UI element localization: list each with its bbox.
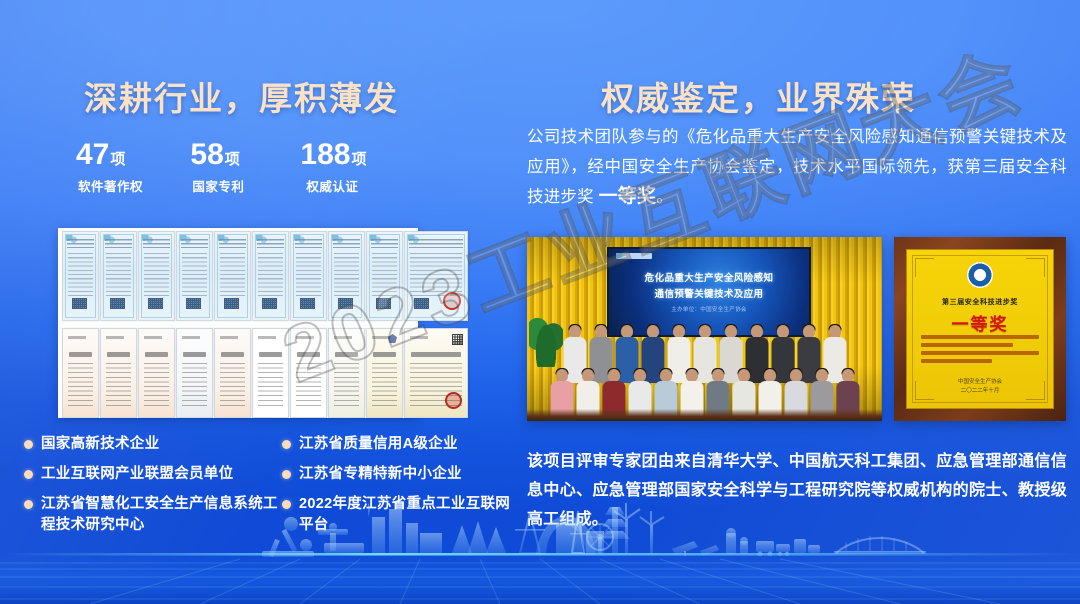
certificate-thumb xyxy=(404,231,468,321)
left-section-heading: 深耕行业，厚积薄发 xyxy=(84,72,399,120)
certificate-thumb xyxy=(290,231,327,321)
stat-number: 47 xyxy=(76,138,109,171)
association-emblem-icon xyxy=(967,262,993,288)
certificate-thumb xyxy=(100,231,137,321)
award-footer: 中国安全生产协会 二〇二二年十月 xyxy=(907,378,1053,396)
certificate-thumb xyxy=(176,328,213,418)
bullet-label: 江苏省专精特新中小企业 xyxy=(299,464,462,485)
stat-number: 188 xyxy=(300,138,350,171)
ornament-icon xyxy=(915,258,934,277)
certificate-thumb xyxy=(176,231,213,321)
slide-canvas: 深耕行业，厚积薄发 47项 软件著作权 58项 国家专利 188项 权威认证 xyxy=(0,0,1080,604)
award-prize-label: 一等奖 xyxy=(907,310,1053,335)
list-item: 工业互联网产业联盟会员单位 xyxy=(24,464,282,485)
stat-number: 58 xyxy=(190,138,223,171)
stat-unit: 项 xyxy=(110,151,125,168)
bullet-label: 江苏省质量信用A级企业 xyxy=(299,434,458,455)
certificate-thumb xyxy=(100,328,137,418)
list-item: 2022年度江苏省重点工业互联网平台 xyxy=(282,494,516,536)
award-date: 二〇二二年十月 xyxy=(907,387,1053,396)
certificate-thumb xyxy=(138,231,175,321)
certificate-thumb xyxy=(252,328,289,418)
group-photo: 危化品重大生产安全风险感知 通信预警关键技术及应用 主办单位：中国安全生产协会 xyxy=(527,237,882,421)
certificate-thumb xyxy=(328,231,365,321)
right-paragraph-top: 公司技术团队参与的《危化品重大生产安全风险感知通信预警关键技术及应用》，经中国安… xyxy=(527,122,1067,212)
bullet-dot-icon xyxy=(24,440,33,449)
certificate-thumb xyxy=(62,231,99,321)
certificate-thumb xyxy=(366,328,403,418)
certificate-thumb xyxy=(62,328,99,418)
list-item: 国家高新技术企业 xyxy=(24,434,282,455)
award-meta xyxy=(921,335,1039,367)
bullet-dot-icon xyxy=(24,470,33,479)
certificates-row-software xyxy=(62,231,469,321)
stat-caption: 软件著作权 xyxy=(78,176,190,195)
stat-caption: 权威认证 xyxy=(306,176,406,195)
paragraph-suffix: 。 xyxy=(656,188,673,206)
certificate-thumb xyxy=(214,231,251,321)
stat-unit: 项 xyxy=(225,151,240,168)
screen-title-line1: 危化品重大生产安全风险感知 xyxy=(609,270,809,284)
award-face: 第三届安全科技进步奖 一等奖 中国安全生产协会 二〇二二年十月 xyxy=(906,249,1054,409)
certificate-thumb xyxy=(138,328,175,418)
stat-item: 188项 权威认证 xyxy=(300,140,406,195)
stats-group: 47项 软件著作权 58项 国家专利 188项 权威认证 xyxy=(76,140,406,195)
photo-floor xyxy=(527,409,882,421)
ornament-icon xyxy=(1026,258,1045,277)
screen-logo-icon xyxy=(616,253,652,259)
certificate-thumb xyxy=(366,231,403,321)
list-item: 江苏省专精特新中小企业 xyxy=(282,464,516,485)
right-section-heading: 权威鉴定，业界殊荣 xyxy=(601,72,916,120)
certificate-thumb xyxy=(252,231,289,321)
certificate-thumb xyxy=(214,328,251,418)
screen-title-line2: 通信预警关键技术及应用 xyxy=(609,286,809,300)
bullet-dot-icon xyxy=(24,500,33,509)
certificates-panel xyxy=(58,228,418,418)
stat-item: 47项 软件著作权 xyxy=(76,140,190,195)
certificate-thumb xyxy=(290,328,327,418)
bullet-label: 工业互联网产业联盟会员单位 xyxy=(41,464,233,485)
stat-item: 58项 国家专利 xyxy=(190,140,300,195)
award-issuer: 中国安全生产协会 xyxy=(907,378,1053,387)
right-paragraph-bottom: 该项目评审专家团由来自清华大学、中国航天科工集团、应急管理部通信信息中心、应急管… xyxy=(527,447,1067,534)
bullet-dot-icon xyxy=(282,500,291,509)
bullet-label: 2022年度江苏省重点工业互联网平台 xyxy=(299,494,516,536)
bullet-label: 国家高新技术企业 xyxy=(41,434,159,455)
award-plaque: 第三届安全科技进步奖 一等奖 中国安全生产协会 二〇二二年十月 xyxy=(894,237,1066,421)
screen-subtitle: 主办单位：中国安全生产协会 xyxy=(609,305,809,313)
bullet-column-left: 国家高新技术企业 工业互联网产业联盟会员单位 江苏省智慧化工安全生产信息系统工程… xyxy=(24,434,282,545)
certificates-row-patents xyxy=(62,328,469,418)
certificate-thumb xyxy=(328,328,365,418)
stat-caption: 国家专利 xyxy=(192,176,300,195)
bullet-column-right: 江苏省质量信用A级企业 江苏省专精特新中小企业 2022年度江苏省重点工业互联网… xyxy=(282,434,516,545)
bullet-dot-icon xyxy=(282,440,291,449)
bullet-dot-icon xyxy=(282,470,291,479)
bullet-label: 江苏省智慧化工安全生产信息系统工程技术研究中心 xyxy=(41,494,282,536)
certificate-thumb xyxy=(404,328,468,418)
list-item: 江苏省智慧化工安全生产信息系统工程技术研究中心 xyxy=(24,494,282,536)
award-title: 第三届安全科技进步奖 xyxy=(907,297,1053,307)
stat-unit: 项 xyxy=(351,151,366,168)
list-item: 江苏省质量信用A级企业 xyxy=(282,434,516,455)
paragraph-highlight: 一等奖 xyxy=(599,186,657,207)
